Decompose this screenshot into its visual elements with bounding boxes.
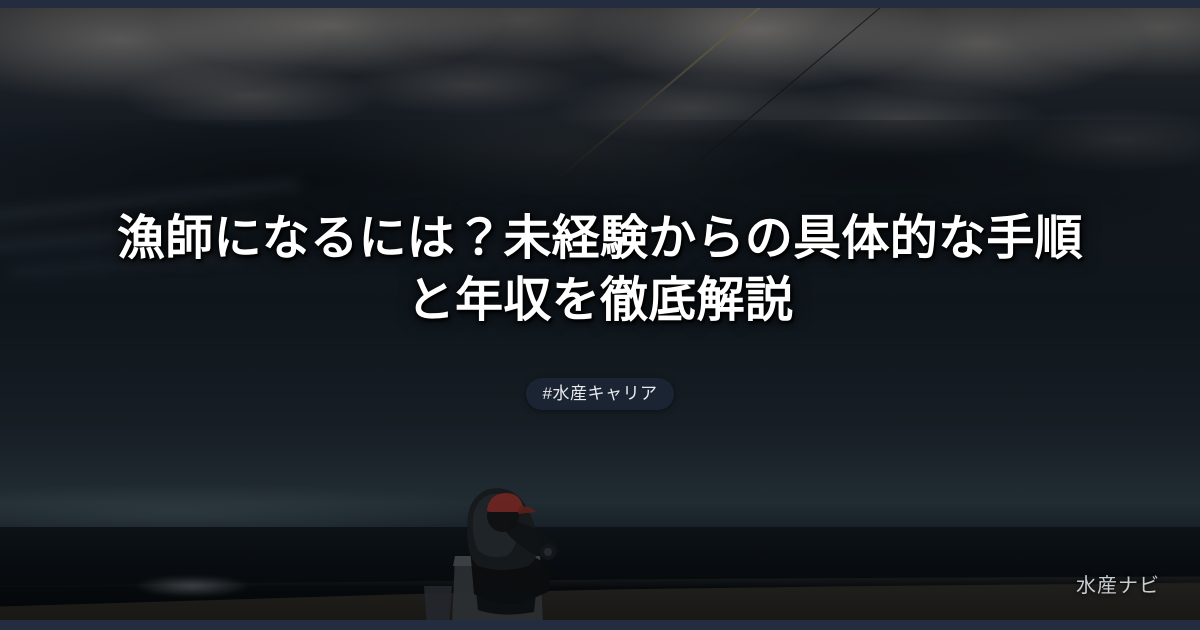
bottom-edge-bar <box>0 620 1200 630</box>
card-content: 漁師になるには？未経験からの具体的な手順と年収を徹底解説 #水産キャリア 水産ナ… <box>0 0 1200 630</box>
tag-badge[interactable]: #水産キャリア <box>526 378 675 410</box>
top-edge-bar <box>0 0 1200 8</box>
ogp-card: 漁師になるには？未経験からの具体的な手順と年収を徹底解説 #水産キャリア 水産ナ… <box>0 0 1200 630</box>
page-title: 漁師になるには？未経験からの具体的な手順と年収を徹底解説 <box>0 208 1200 333</box>
site-watermark: 水産ナビ <box>1076 569 1160 598</box>
tag-row: #水産キャリア <box>0 378 1200 410</box>
